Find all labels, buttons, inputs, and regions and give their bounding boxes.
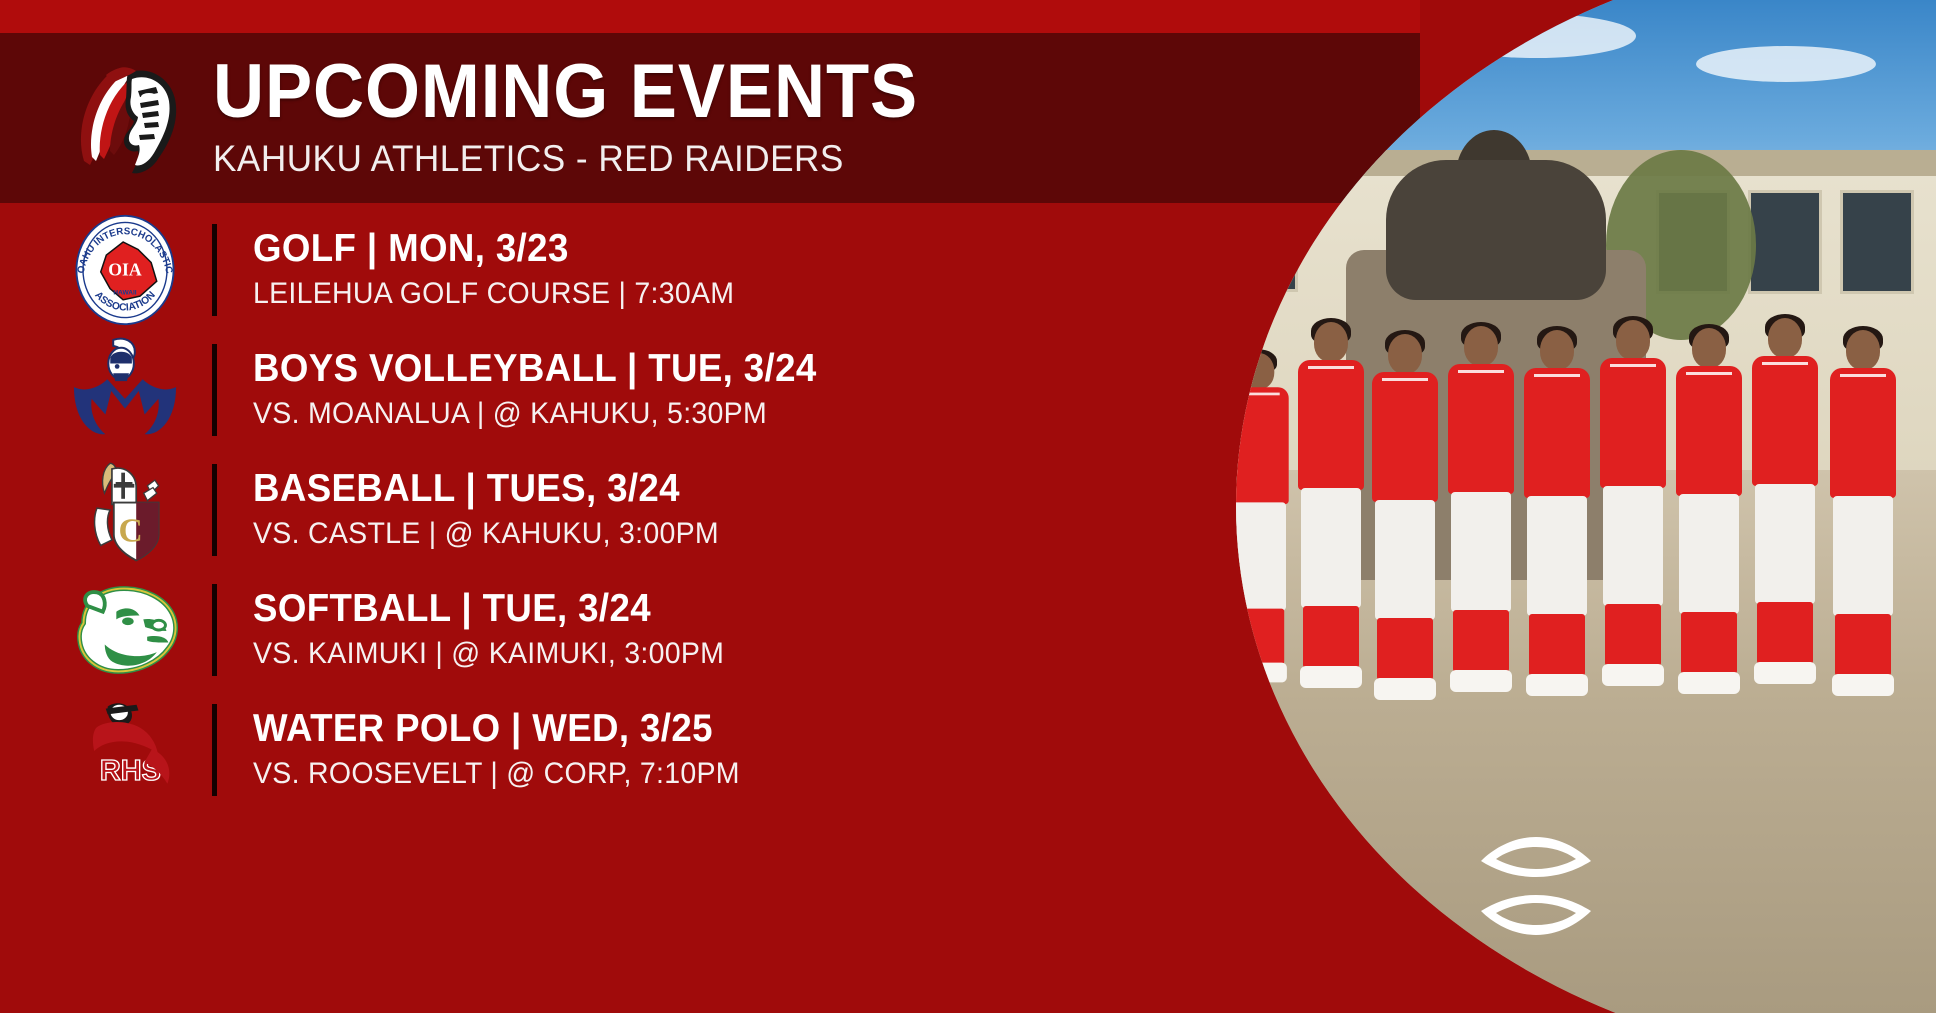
row-divider (212, 464, 217, 556)
player (1594, 320, 1672, 700)
player-head (1464, 326, 1498, 366)
team-photo-pane (1136, 0, 1936, 1013)
player (1292, 322, 1370, 702)
player-pants (1451, 492, 1511, 612)
kahuku-warrior-logo (70, 53, 185, 183)
player-jersey (1160, 402, 1218, 516)
event-detail: VS. MOANALUA | @ KAHUKU, 5:30PM (253, 397, 823, 431)
player-pants (1833, 496, 1893, 616)
team-photo (1136, 0, 1936, 1013)
player-head (1540, 330, 1574, 370)
player (1366, 334, 1444, 714)
row-divider (212, 344, 217, 436)
player-head (1314, 322, 1348, 362)
player-socks (1377, 618, 1433, 680)
player-shoes (1231, 663, 1287, 683)
player-pants (1301, 488, 1361, 608)
svg-text:C: C (118, 513, 142, 550)
player-head (1692, 328, 1726, 368)
player-pants (1163, 515, 1216, 621)
window (1150, 196, 1216, 292)
under-armour-logo (1451, 831, 1621, 941)
player-shoes (1526, 674, 1588, 696)
player-shoes (1602, 664, 1664, 686)
player-head (1616, 320, 1650, 360)
player-head (1388, 334, 1422, 374)
player-jersey (1448, 364, 1514, 494)
event-row[interactable]: SOFTBALL | TUE, 3/24 VS. KAIMUKI | @ KAI… (0, 570, 1200, 690)
player (1442, 326, 1520, 706)
page-subtitle: KAHUKU ATHLETICS - RED RAIDERS (213, 138, 933, 180)
row-divider (212, 704, 217, 796)
event-title: BASEBALL | TUES, 3/24 (253, 469, 714, 510)
player-socks (1453, 610, 1509, 672)
player-socks (1681, 612, 1737, 674)
event-row[interactable]: BOYS VOLLEYBALL | TUE, 3/24 VS. MOANALUA… (0, 330, 1200, 450)
player-pants (1527, 496, 1587, 616)
player-jersey (1600, 358, 1666, 488)
player-jersey (1229, 387, 1288, 504)
player-shoes (1374, 678, 1436, 700)
event-detail: VS. KAIMUKI | @ KAIMUKI, 3:00PM (253, 637, 724, 671)
player-jersey (1372, 372, 1438, 502)
tree (1136, 120, 1276, 350)
event-detail: VS. ROOSEVELT | @ CORP, 7:10PM (253, 757, 740, 791)
player-socks (1529, 614, 1585, 676)
player-socks (1605, 604, 1661, 666)
header: UPCOMING EVENTS KAHUKU ATHLETICS - RED R… (0, 33, 1200, 203)
event-title: GOLF | MON, 3/23 (253, 229, 729, 270)
player (1518, 330, 1596, 710)
kaimuki-bulldogs-logo (60, 576, 190, 684)
event-detail: VS. CASTLE | @ KAHUKU, 3:00PM (253, 517, 719, 551)
cloud (1436, 14, 1636, 58)
player-head (1846, 330, 1880, 370)
player-head (1768, 318, 1802, 358)
player-pants (1679, 494, 1739, 614)
player-shoes (1450, 670, 1512, 692)
player-pants (1603, 486, 1663, 606)
page-title: UPCOMING EVENTS (213, 56, 918, 128)
row-divider (212, 584, 217, 676)
svg-text:OIA: OIA (108, 260, 142, 280)
window (1748, 190, 1822, 294)
event-row[interactable]: C BASEBALL | TUES, 3/24 VS. CASTLE | @ K… (0, 450, 1200, 570)
event-title: SOFTBALL | TUE, 3/24 (253, 589, 719, 630)
player-socks (1234, 609, 1284, 665)
player-socks (1757, 602, 1813, 664)
player-jersey (1298, 360, 1364, 490)
player-pants (1755, 484, 1815, 604)
player-pants (1375, 500, 1435, 620)
team-players (1136, 300, 1936, 800)
svg-text:HAWAII: HAWAII (113, 289, 136, 296)
cloud (1196, 30, 1346, 70)
graphic-canvas: UPCOMING EVENTS KAHUKU ATHLETICS - RED R… (0, 0, 1936, 1013)
cloud (1696, 46, 1876, 82)
player-jersey (1752, 356, 1818, 486)
event-row[interactable]: RHS WATER POLO | WED, 3/25 VS. ROOSEVELT… (0, 690, 1200, 810)
player-shoes (1754, 662, 1816, 684)
moanalua-menehune-logo (60, 336, 190, 444)
player (1670, 328, 1748, 708)
castle-knights-logo: C (60, 456, 190, 564)
row-divider (212, 224, 217, 316)
player-hair (1171, 365, 1206, 388)
player-head (1244, 353, 1275, 389)
player (1824, 330, 1902, 710)
event-title: WATER POLO | WED, 3/25 (253, 709, 735, 750)
player-pants (1232, 502, 1286, 610)
player (1155, 369, 1224, 703)
player-head (1174, 369, 1204, 404)
player-socks (1303, 606, 1359, 668)
player-shoes (1162, 672, 1217, 691)
events-list: OIA HAWAII OAHU INTERSCHOLASTIC ASSOCIAT… (0, 210, 1200, 810)
event-detail: LEILEHUA GOLF COURSE | 7:30AM (253, 277, 734, 311)
event-row[interactable]: OIA HAWAII OAHU INTERSCHOLASTIC ASSOCIAT… (0, 210, 1200, 330)
window (1840, 190, 1914, 294)
player-shoes (1832, 674, 1894, 696)
player-shoes (1300, 666, 1362, 688)
window (1232, 196, 1298, 292)
player-jersey (1676, 366, 1742, 496)
event-title: BOYS VOLLEYBALL | TUE, 3/24 (253, 349, 817, 390)
statue-figure (1386, 160, 1606, 300)
player-socks (1835, 614, 1891, 676)
player (1224, 353, 1294, 695)
player-socks (1164, 619, 1213, 674)
player-jersey (1524, 368, 1590, 498)
player (1746, 318, 1824, 698)
roosevelt-rough-riders-logo: RHS (60, 696, 190, 804)
player-shoes (1678, 672, 1740, 694)
oia-logo: OIA HAWAII OAHU INTERSCHOLASTIC ASSOCIAT… (60, 216, 190, 324)
player-jersey (1830, 368, 1896, 498)
